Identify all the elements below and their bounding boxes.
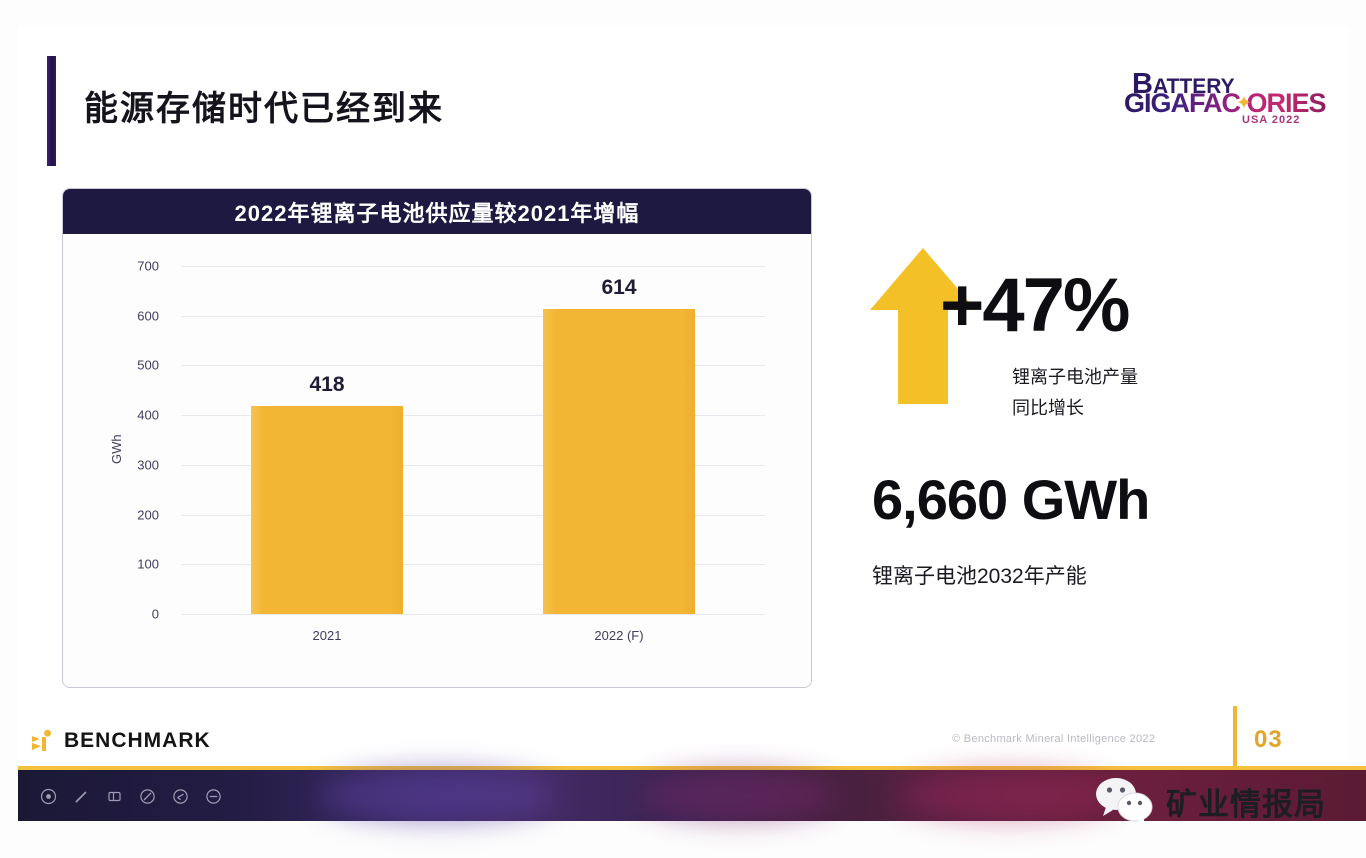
bar-2022F bbox=[543, 309, 695, 614]
y-axis-tick-label: 200 bbox=[99, 507, 159, 522]
copyright-text: © Benchmark Mineral Intelligence 2022 bbox=[952, 733, 1155, 745]
y-axis-tick-label: 400 bbox=[99, 408, 159, 423]
percent-caption-line2: 同比增长 bbox=[1012, 393, 1138, 424]
laser-pointer-icon[interactable] bbox=[139, 788, 156, 805]
gridline bbox=[181, 266, 765, 267]
navigate-icon[interactable] bbox=[172, 788, 189, 805]
page-title: 能源存储时代已经到来 bbox=[84, 92, 444, 126]
chart-card: 2022年锂离子电池供应量较2021年增幅 GWh 01002003004005… bbox=[62, 188, 812, 688]
page-number: 03 bbox=[1254, 726, 1283, 754]
y-axis-tick-label: 0 bbox=[99, 607, 159, 622]
chart-header: 2022年锂离子电池供应量较2021年增幅 bbox=[63, 189, 811, 234]
minimize-icon[interactable] bbox=[205, 788, 222, 805]
percent-caption: 锂离子电池产量 同比增长 bbox=[1012, 362, 1138, 424]
page-number-rule bbox=[1233, 706, 1237, 768]
event-logo-line2-a: GIGAFAC bbox=[1124, 88, 1240, 118]
y-axis-tick-label: 500 bbox=[99, 358, 159, 373]
star-icon: ✦ bbox=[1236, 94, 1250, 111]
x-axis-tick-label: 2022 (F) bbox=[473, 628, 765, 643]
chart-title: 2022年锂离子电池供应量较2021年增幅 bbox=[235, 196, 640, 228]
benchmark-logo: BENCHMARK bbox=[30, 726, 211, 756]
y-axis-tick-label: 700 bbox=[99, 259, 159, 274]
capacity-caption: 锂离子电池2032年产能 bbox=[872, 560, 1087, 590]
y-axis-tick-label: 600 bbox=[99, 308, 159, 323]
y-axis-tick-label: 300 bbox=[99, 457, 159, 472]
bar-value-label: 614 bbox=[543, 276, 695, 300]
slide-root: 能源存储时代已经到来 BATTERY GIGAFAC.ORIES ✦ USA 2… bbox=[0, 0, 1366, 858]
benchmark-wordmark: BENCHMARK bbox=[64, 729, 211, 753]
wechat-watermark: 矿业情报局 bbox=[1094, 768, 1356, 834]
x-axis-tick-label: 2021 bbox=[181, 628, 473, 643]
wechat-watermark-text: 矿业情报局 bbox=[1166, 779, 1326, 824]
plot-area: 010020030040050060070041820216142022 (F) bbox=[181, 266, 765, 614]
event-logo-line3: USA 2022 bbox=[1242, 114, 1300, 126]
eraser-icon[interactable] bbox=[106, 788, 123, 805]
event-logo: BATTERY GIGAFAC.ORIES ✦ USA 2022 bbox=[1124, 68, 1320, 130]
bar-2021 bbox=[251, 406, 403, 614]
gridline bbox=[181, 614, 765, 615]
wechat-icon bbox=[1094, 777, 1156, 825]
title-accent-bar bbox=[47, 56, 56, 166]
bar-value-label: 418 bbox=[251, 373, 403, 397]
presenter-toolbar[interactable] bbox=[40, 782, 222, 810]
chart-body: GWh 010020030040050060070041820216142022… bbox=[63, 234, 811, 688]
percent-value: +47% bbox=[940, 268, 1129, 344]
capacity-value: 6,660 GWh bbox=[872, 472, 1149, 528]
y-axis-tick-label: 100 bbox=[99, 557, 159, 572]
benchmark-mark-icon bbox=[30, 729, 55, 753]
record-dot-icon[interactable] bbox=[40, 788, 57, 805]
pen-icon[interactable] bbox=[73, 788, 90, 805]
percent-caption-line1: 锂离子电池产量 bbox=[1012, 362, 1138, 393]
